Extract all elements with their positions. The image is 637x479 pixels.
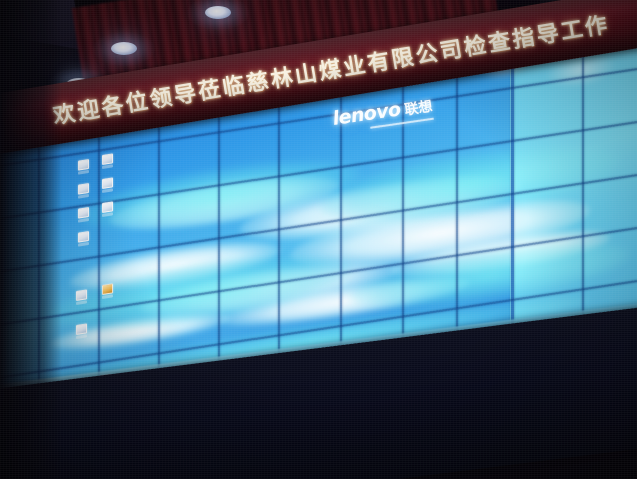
- list-item[interactable]: [102, 177, 113, 193]
- list-item[interactable]: [102, 283, 113, 299]
- file-icon: [78, 159, 89, 171]
- folder-icon: [102, 283, 113, 295]
- file-icon: [78, 183, 89, 195]
- list-item[interactable]: [102, 153, 113, 169]
- file-icon: [76, 289, 87, 301]
- file-icon: [102, 201, 113, 213]
- list-item[interactable]: [78, 183, 89, 199]
- screenshot-scene: lenovo联想 欢迎各位领导莅临慈林山煤业有限公司检查指导工作: [0, 0, 637, 479]
- list-item[interactable]: [102, 201, 113, 217]
- file-icon: [102, 153, 113, 165]
- file-icon: [78, 207, 89, 219]
- file-icon: [78, 231, 89, 243]
- list-item[interactable]: [78, 231, 89, 247]
- list-item[interactable]: [78, 159, 89, 175]
- list-item[interactable]: [76, 323, 87, 339]
- list-item[interactable]: [76, 289, 87, 305]
- file-icon: [102, 177, 113, 189]
- list-item[interactable]: [78, 207, 89, 223]
- file-icon: [76, 323, 87, 335]
- left-wall-shadow: [0, 0, 62, 479]
- lenovo-wordmark-cn: 联想: [404, 99, 434, 119]
